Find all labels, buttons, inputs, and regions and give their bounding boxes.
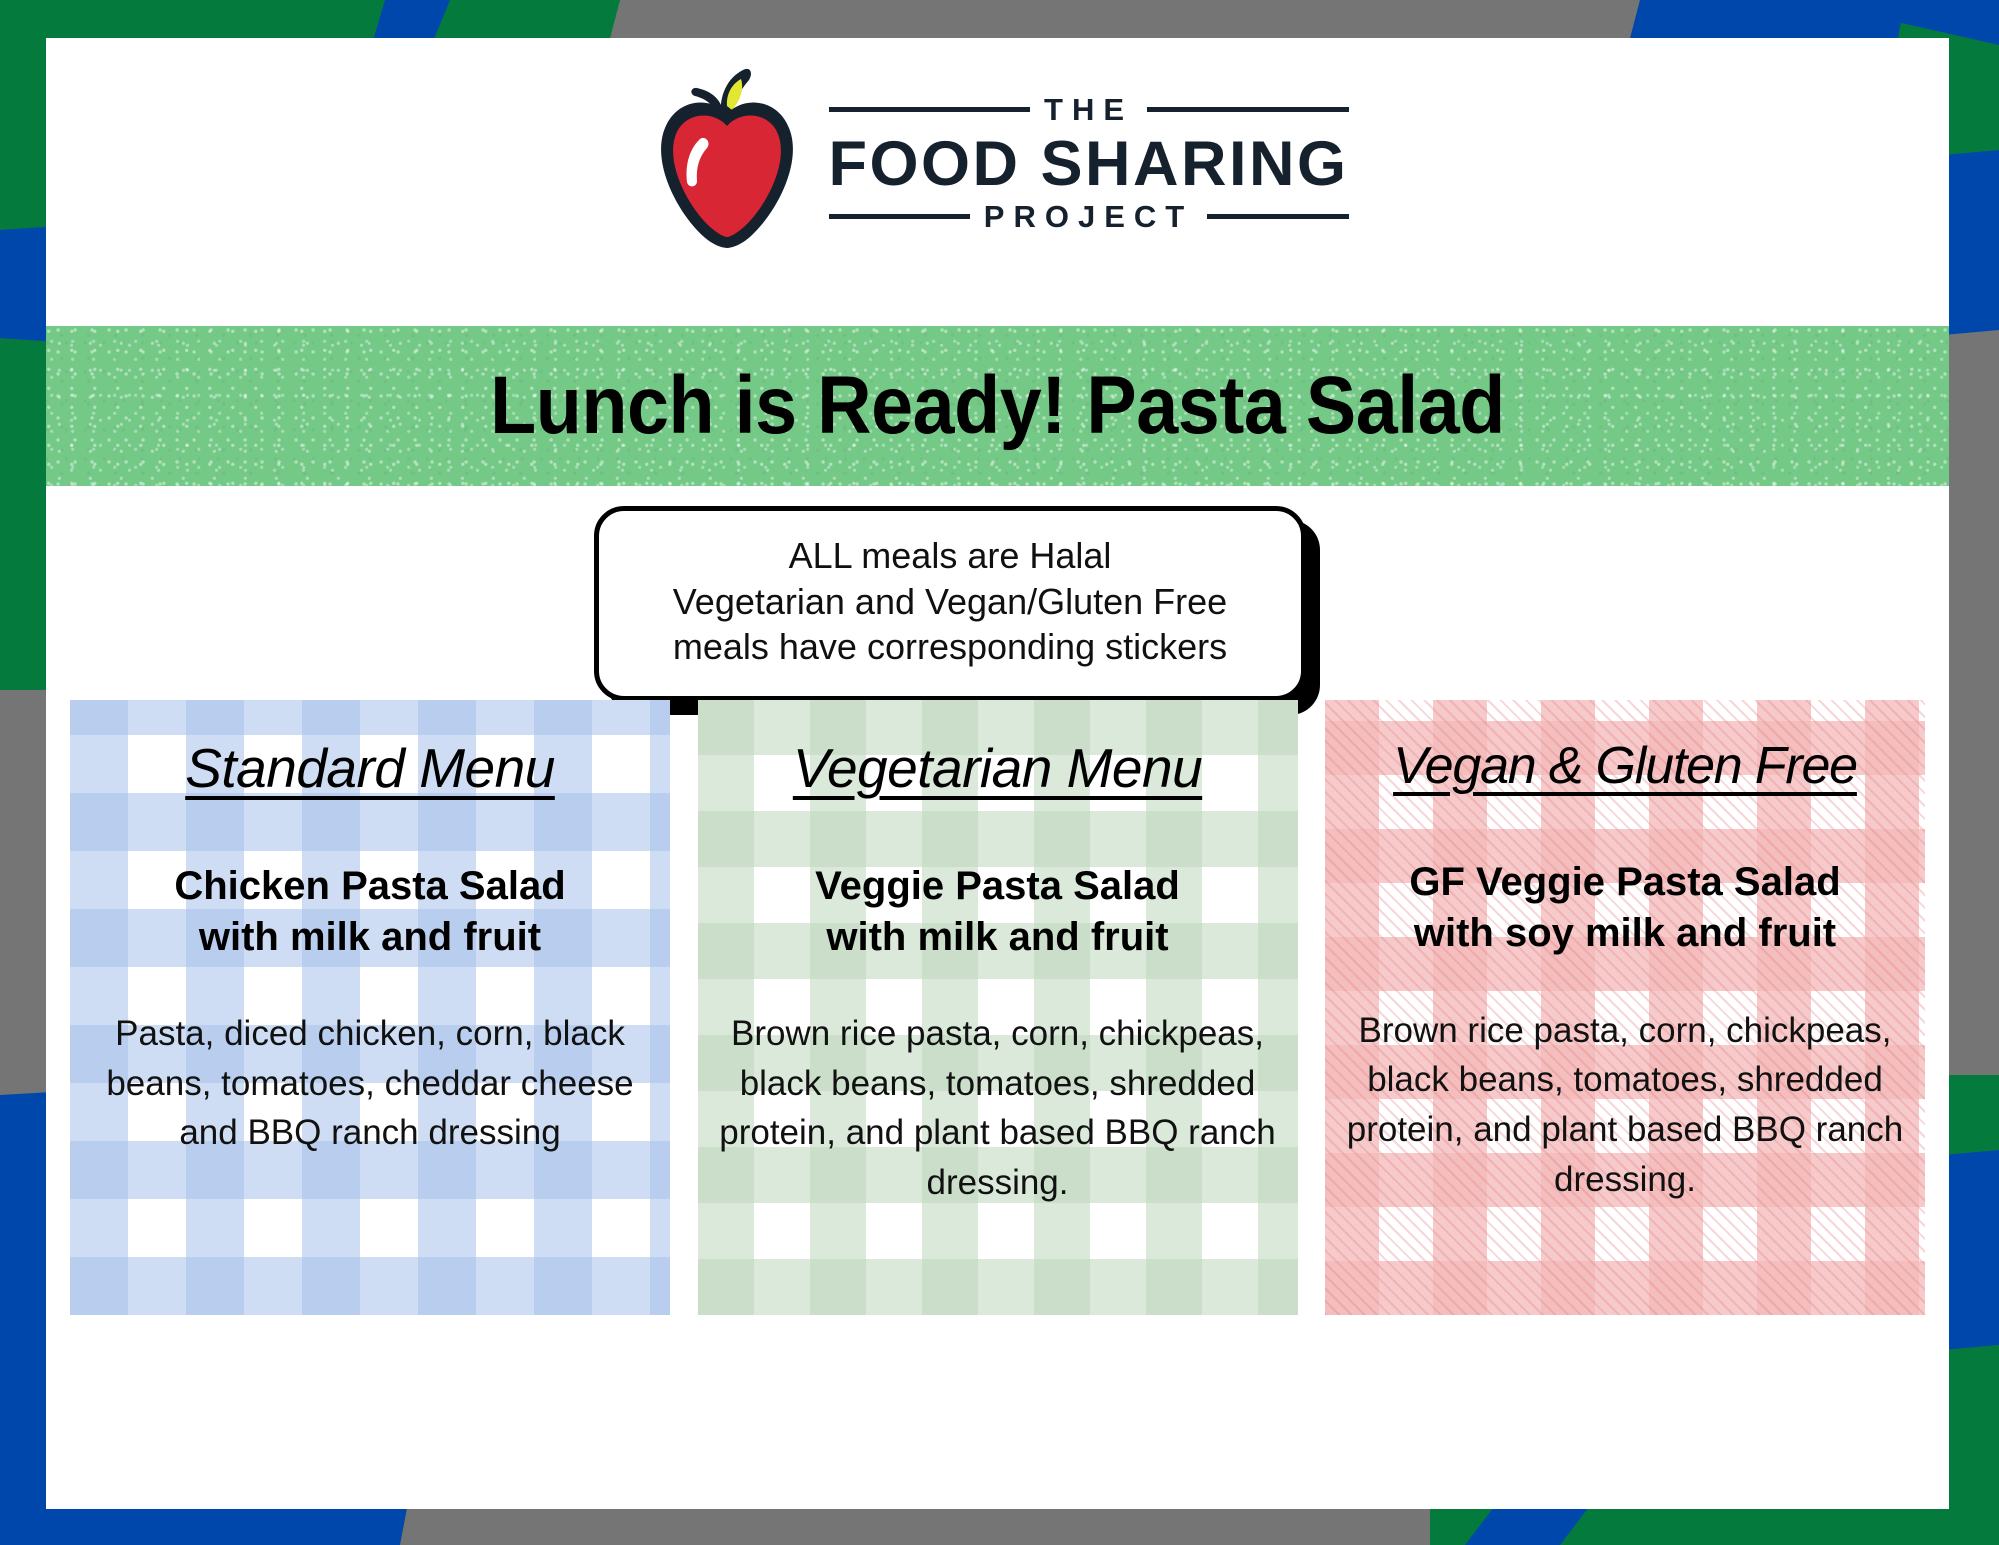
header: THE FOOD SHARING PROJECT (46, 38, 1949, 326)
title-banner: Lunch is Ready! Pasta Salad (46, 326, 1949, 486)
menu-heading-vegan-gf: Vegan & Gluten Free (1343, 738, 1907, 795)
menu-item-line-1: Veggie Pasta Salad (716, 861, 1280, 912)
brand-wordmark: THE FOOD SHARING PROJECT (828, 82, 1348, 232)
brand-project-row: PROJECT (828, 201, 1348, 232)
menu-item-vegan-gf: GF Veggie Pasta Salad with soy milk and … (1343, 857, 1907, 959)
brand-the-row: THE (828, 94, 1348, 125)
brand-main: FOOD SHARING (828, 131, 1348, 197)
menu-heading-standard: Standard Menu (88, 738, 652, 799)
brand-logo: THE FOOD SHARING PROJECT (646, 62, 1348, 252)
menu-item-line-2: with soy milk and fruit (1343, 908, 1907, 959)
callout-line-3: meals have corresponding stickers (625, 624, 1275, 670)
menu-description-standard: Pasta, diced chicken, corn, black beans,… (88, 1009, 652, 1158)
menu-item-vegetarian: Veggie Pasta Salad with milk and fruit (716, 861, 1280, 963)
menu-item-line-1: Chicken Pasta Salad (88, 861, 652, 912)
rule-left (828, 107, 1030, 112)
page-title: Lunch is Ready! Pasta Salad (490, 359, 1505, 453)
menu-item-line-2: with milk and fruit (716, 912, 1280, 963)
rule-right (1147, 107, 1349, 112)
poster-canvas: THE FOOD SHARING PROJECT Lunch is Ready!… (0, 0, 1999, 1545)
menu-columns: Standard Menu Chicken Pasta Salad with m… (46, 700, 1949, 1315)
brand-the: THE (1044, 94, 1133, 125)
poster-page: THE FOOD SHARING PROJECT Lunch is Ready!… (46, 38, 1949, 1509)
halal-callout: ALL meals are Halal Vegetarian and Vegan… (594, 506, 1306, 701)
rule-left-2 (828, 214, 969, 219)
callout-box: ALL meals are Halal Vegetarian and Vegan… (594, 506, 1306, 701)
apple-heart-icon (646, 62, 806, 252)
callout-zone: ALL meals are Halal Vegetarian and Vegan… (46, 486, 1949, 694)
menu-item-line-1: GF Veggie Pasta Salad (1343, 857, 1907, 908)
menu-heading-vegetarian: Vegetarian Menu (716, 738, 1280, 799)
brand-project: PROJECT (984, 201, 1193, 232)
rule-right-2 (1207, 214, 1348, 219)
menu-column-standard: Standard Menu Chicken Pasta Salad with m… (70, 700, 670, 1315)
menu-description-vegetarian: Brown rice pasta, corn, chickpeas, black… (716, 1009, 1280, 1208)
callout-line-2: Vegetarian and Vegan/Gluten Free (625, 579, 1275, 625)
callout-line-1: ALL meals are Halal (625, 533, 1275, 579)
menu-description-vegan-gf: Brown rice pasta, corn, chickpeas, black… (1343, 1006, 1907, 1205)
menu-column-vegetarian: Vegetarian Menu Veggie Pasta Salad with … (698, 700, 1298, 1315)
menu-item-line-2: with milk and fruit (88, 912, 652, 963)
menu-item-standard: Chicken Pasta Salad with milk and fruit (88, 861, 652, 963)
menu-column-vegan-gf: Vegan & Gluten Free GF Veggie Pasta Sala… (1325, 700, 1925, 1315)
